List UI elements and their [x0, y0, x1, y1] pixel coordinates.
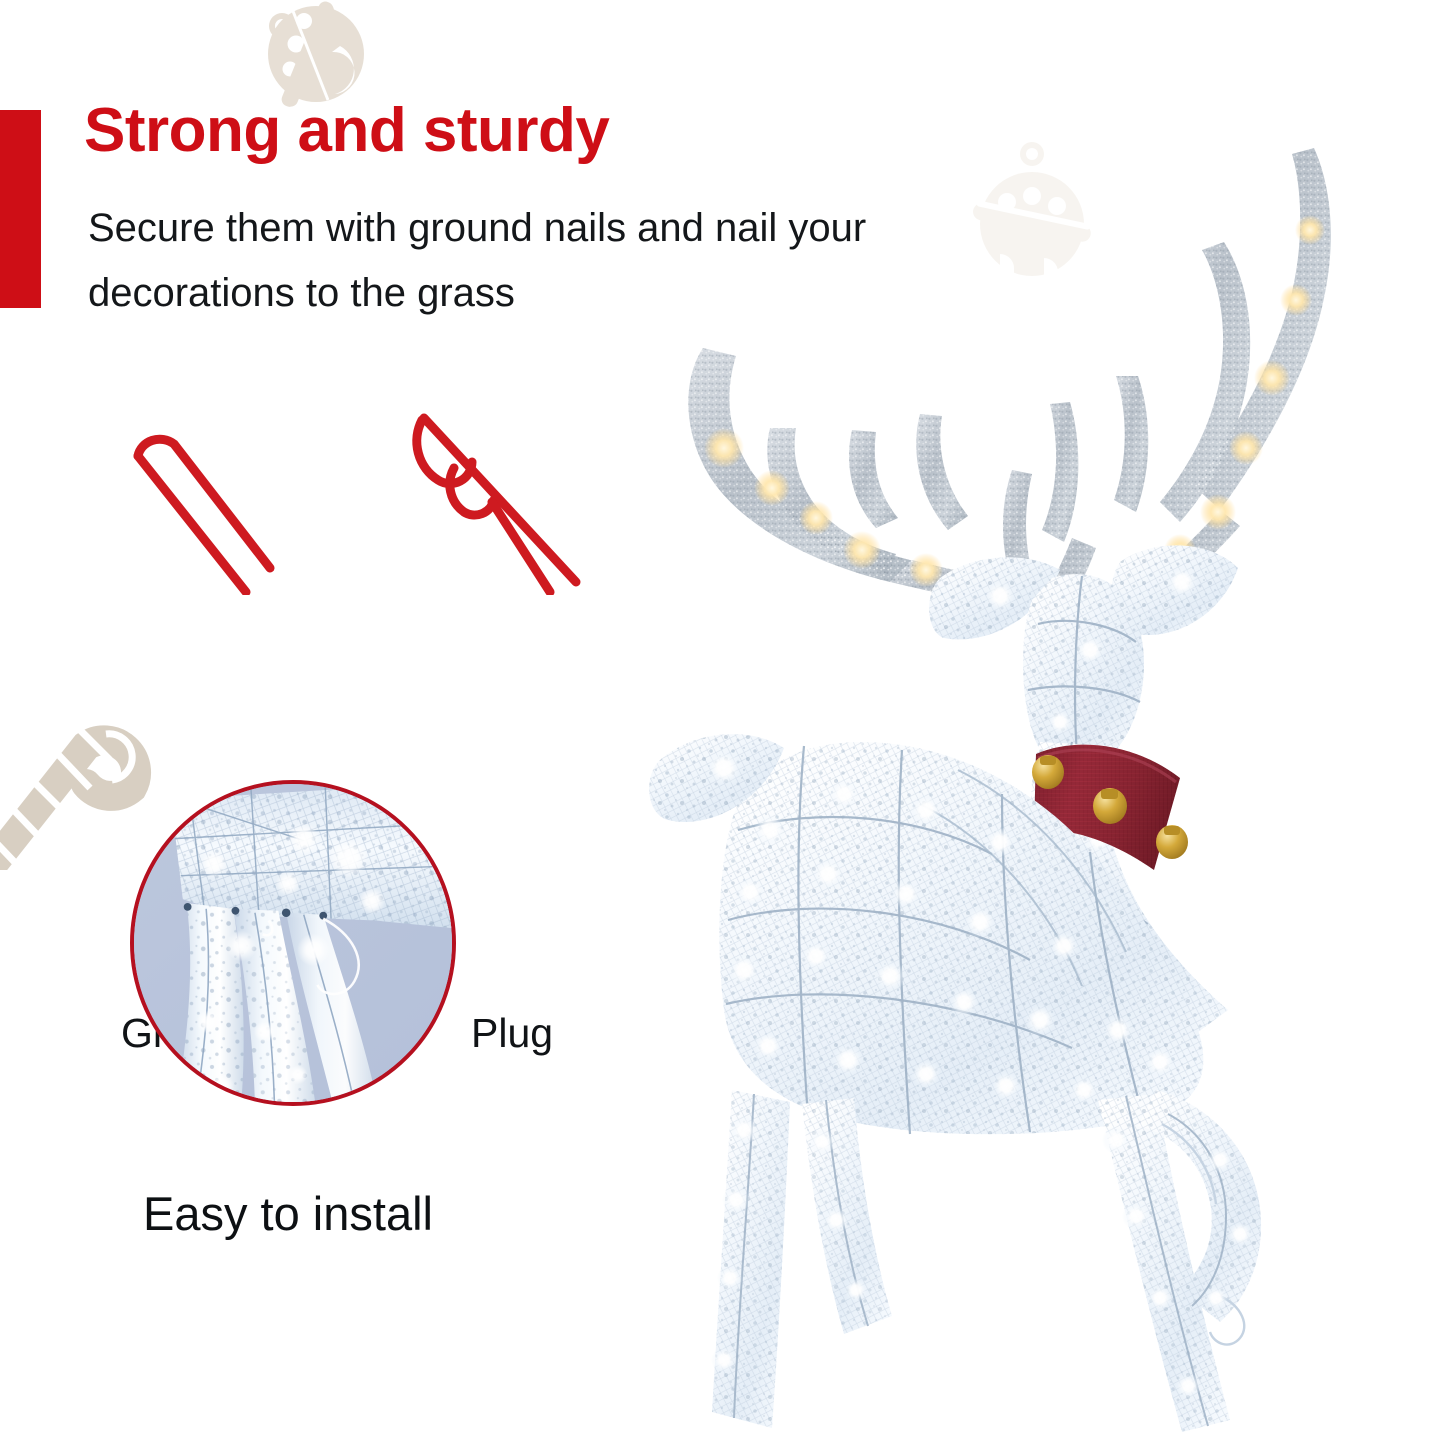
infographic-canvas: Strong and sturdy Secure them with groun…: [0, 0, 1445, 1445]
detail-photo: [132, 782, 454, 1104]
detail-caption: Easy to install: [143, 1186, 433, 1241]
antlers: [688, 148, 1331, 624]
page-title: Strong and sturdy: [84, 98, 609, 163]
accent-bar: [0, 110, 41, 308]
power-plug-icon: [410, 410, 600, 600]
reindeer-product-image: [620, 130, 1410, 1440]
legs: [711, 1090, 1261, 1432]
hardware-legend: Ground nails Plug: [0, 410, 640, 660]
plug-label: Plug: [471, 1010, 553, 1057]
detail-photo-circle: [130, 780, 456, 1106]
ground-nail-icon: [122, 410, 312, 600]
